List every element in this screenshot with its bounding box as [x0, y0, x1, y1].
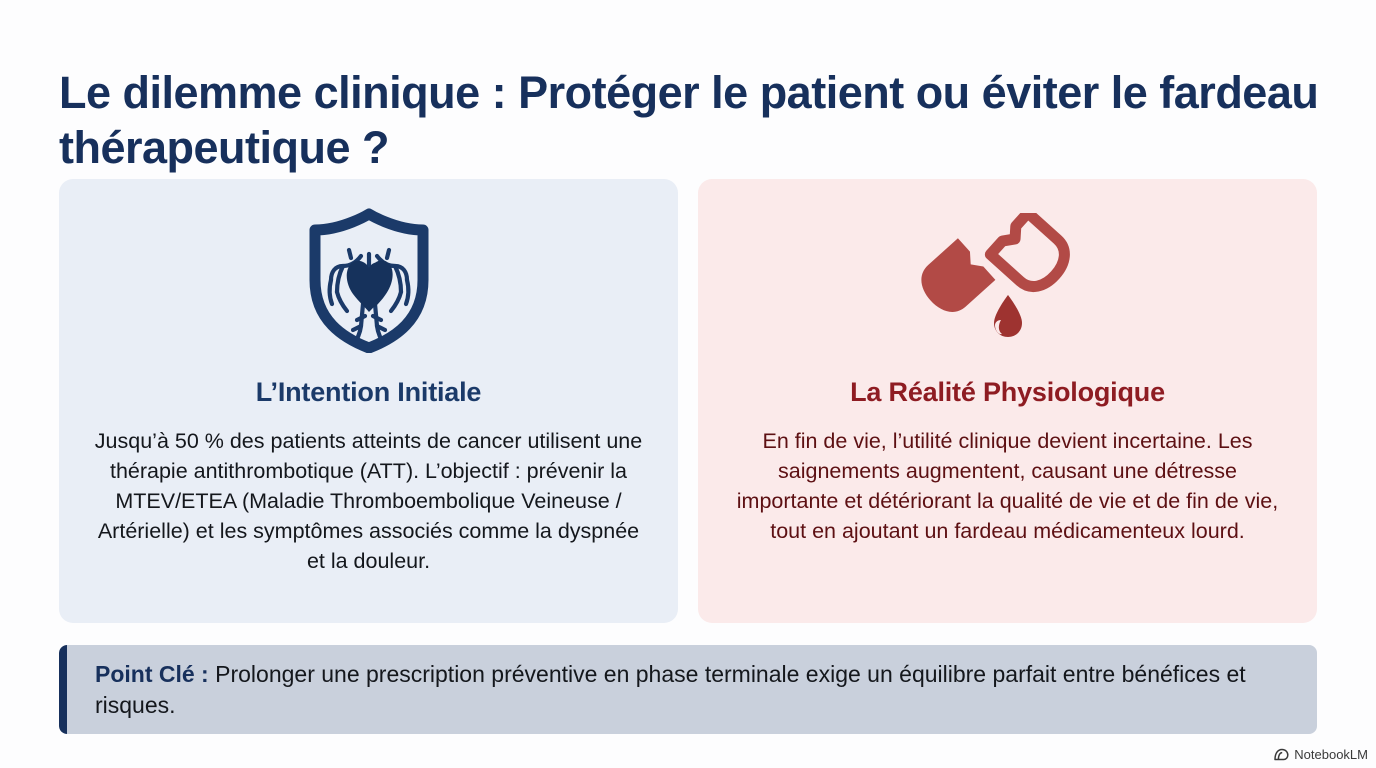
key-point-accent-bar — [59, 645, 67, 734]
notebooklm-logo-icon — [1274, 748, 1289, 761]
card-heading: La Réalité Physiologique — [850, 377, 1165, 408]
page-title: Le dilemme clinique : Protéger le patien… — [59, 66, 1319, 176]
slide-canvas: Le dilemme clinique : Protéger le patien… — [0, 0, 1376, 768]
card-intention-initiale: L’Intention Initiale Jusqu’à 50 % des pa… — [59, 179, 678, 623]
key-point-body: Prolonger une prescription préventive en… — [95, 661, 1246, 718]
broken-pill-blood-drop-icon — [920, 205, 1095, 355]
card-realite-physiologique: La Réalité Physiologique En fin de vie, … — [698, 179, 1317, 623]
card-body-text: Jusqu’à 50 % des patients atteints de ca… — [89, 427, 649, 576]
card-body-text: En fin de vie, l’utilité clinique devien… — [728, 427, 1288, 547]
notebooklm-label: NotebookLM — [1294, 747, 1368, 762]
key-point-banner: Point Clé : Prolonger une prescription p… — [59, 645, 1317, 734]
shield-heart-vascular-icon — [299, 205, 439, 355]
card-heading: L’Intention Initiale — [256, 377, 482, 408]
key-point-text: Point Clé : Prolonger une prescription p… — [59, 659, 1317, 721]
key-point-label: Point Clé : — [95, 661, 209, 687]
notebooklm-watermark: NotebookLM — [1274, 747, 1368, 762]
comparison-cards: L’Intention Initiale Jusqu’à 50 % des pa… — [59, 179, 1317, 623]
